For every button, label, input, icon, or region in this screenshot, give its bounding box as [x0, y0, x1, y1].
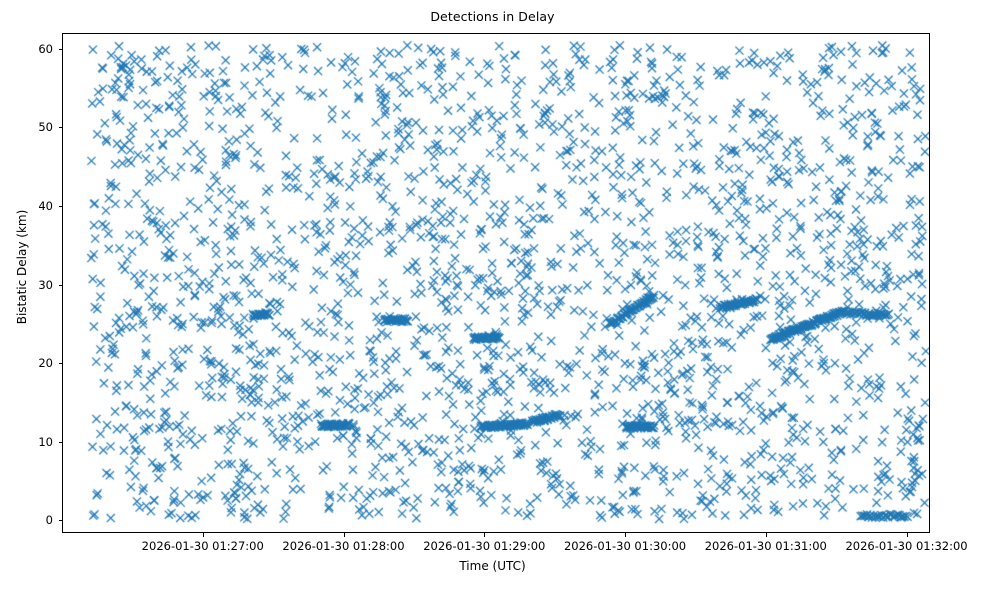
y-tick-label: 60 [38, 42, 53, 56]
y-tick-mark [59, 285, 63, 286]
scatter-points-layer [63, 34, 930, 533]
y-tick-mark [59, 520, 63, 521]
y-tick-mark [59, 206, 63, 207]
y-tick-mark [59, 49, 63, 50]
x-tick-mark [484, 533, 485, 537]
y-tick-mark [59, 442, 63, 443]
x-tick-mark [344, 533, 345, 537]
page-title: Detections in Delay [0, 9, 985, 24]
x-tick-mark [203, 533, 204, 537]
y-tick-label: 40 [38, 199, 53, 213]
x-tick-mark [907, 533, 908, 537]
x-tick-label: 2026-01-30 01:32:00 [845, 539, 967, 553]
y-axis-label: Bistatic Delay (km) [15, 137, 29, 397]
x-tick-label: 2026-01-30 01:28:00 [282, 539, 404, 553]
figure-canvas: Detections in Delay 2026-01-30 01:27:002… [0, 0, 985, 590]
x-tick-label: 2026-01-30 01:29:00 [423, 539, 545, 553]
x-tick-mark [625, 533, 626, 537]
y-tick-label: 0 [46, 513, 53, 527]
y-tick-label: 20 [38, 356, 53, 370]
x-tick-label: 2026-01-30 01:31:00 [705, 539, 827, 553]
plot-axes-area [62, 33, 930, 533]
y-tick-mark [59, 127, 63, 128]
y-tick-label: 10 [38, 435, 53, 449]
x-tick-label: 2026-01-30 01:27:00 [142, 539, 264, 553]
y-tick-label: 30 [38, 278, 53, 292]
y-tick-label: 50 [38, 120, 53, 134]
x-tick-label: 2026-01-30 01:30:00 [564, 539, 686, 553]
x-axis-label: Time (UTC) [0, 559, 985, 573]
x-tick-mark [766, 533, 767, 537]
y-tick-mark [59, 363, 63, 364]
